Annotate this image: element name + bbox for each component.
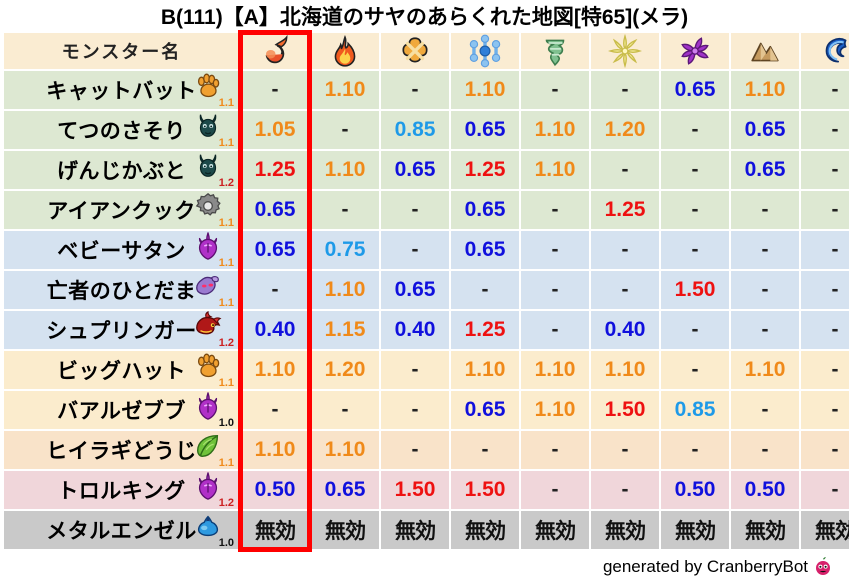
resistance-value: - — [381, 398, 449, 422]
resistance-cell: - — [801, 311, 849, 349]
monster-name-cell[interactable]: てつのさそり1.1 — [4, 111, 239, 149]
darkstar-icon — [678, 34, 712, 68]
resistance-cell: 1.10 — [591, 351, 659, 389]
table-row: げんじかぶと1.21.251.100.651.251.10--0.65- — [4, 151, 849, 189]
resistance-cell: - — [801, 151, 849, 189]
monster-family-badge: 1.1 — [191, 192, 235, 228]
resistance-value: 0.65 — [381, 278, 449, 302]
resistance-cell: - — [591, 431, 659, 469]
resistance-value: 1.10 — [731, 358, 799, 382]
resistance-cell: 1.05 — [241, 111, 309, 149]
resistance-value: 0.65 — [661, 78, 729, 102]
resistance-cell: 1.10 — [311, 151, 379, 189]
resistance-value: - — [311, 198, 379, 222]
resistance-value: 0.65 — [731, 118, 799, 142]
resistance-cell: 無効 — [591, 511, 659, 549]
monster-multiplier-label: 1.1 — [219, 98, 234, 109]
tornado-icon — [538, 34, 572, 68]
resistance-cell: 無効 — [241, 511, 309, 549]
resistance-value: - — [241, 78, 309, 102]
header-element-gira[interactable] — [311, 33, 379, 69]
resistance-cell: - — [381, 391, 449, 429]
resistance-value: - — [801, 78, 849, 102]
resistance-cell: - — [801, 391, 849, 429]
resistance-cell: - — [801, 271, 849, 309]
resistance-value: 無効 — [451, 515, 519, 545]
monster-multiplier-label: 1.1 — [219, 138, 234, 149]
mountain-icon — [748, 34, 782, 68]
resistance-value: - — [591, 78, 659, 102]
table-row: アイアンクック1.10.65--0.65-1.25--- — [4, 191, 849, 229]
monster-name-label: てつのさそり — [57, 115, 186, 145]
resistance-value: - — [521, 238, 589, 262]
resistance-cell: - — [591, 471, 659, 509]
table-row: シュプリンガー1.20.401.150.401.25-0.40--- — [4, 311, 849, 349]
monster-family-badge: 1.2 — [191, 312, 235, 348]
monster-family-badge: 1.1 — [191, 232, 235, 268]
monster-multiplier-label: 1.1 — [219, 258, 234, 269]
resistance-cell: - — [381, 351, 449, 389]
resistance-cell: 1.15 — [311, 311, 379, 349]
resistance-value: 0.65 — [241, 198, 309, 222]
table-row: バアルゼブブ1.0---0.651.101.500.85-- — [4, 391, 849, 429]
resistance-value: - — [521, 438, 589, 462]
header-element-dein[interactable] — [591, 33, 659, 69]
resistance-value: - — [801, 238, 849, 262]
monster-family-badge: 1.1 — [191, 272, 235, 308]
resistance-value: 0.65 — [451, 118, 519, 142]
resistance-value: 無効 — [591, 515, 659, 545]
resistance-value: 0.65 — [451, 398, 519, 422]
resistance-value: - — [801, 358, 849, 382]
monster-name-label: アイアンクック — [47, 195, 196, 225]
fireball-icon — [258, 34, 292, 68]
resistance-value: 0.50 — [731, 478, 799, 502]
resistance-cell: 1.10 — [731, 71, 799, 109]
resistance-value: 無効 — [381, 515, 449, 545]
resistance-cell: 1.10 — [521, 111, 589, 149]
resistance-value: - — [381, 358, 449, 382]
resistance-cell: 無効 — [731, 511, 799, 549]
resistance-cell: 1.10 — [451, 351, 519, 389]
resistance-cell: - — [521, 231, 589, 269]
monster-name-cell[interactable]: トロルキング1.2 — [4, 471, 239, 509]
monster-multiplier-label: 1.2 — [219, 498, 234, 509]
resistance-value: 1.10 — [311, 438, 379, 462]
monster-multiplier-label: 1.1 — [219, 458, 234, 469]
resistance-cell: - — [381, 191, 449, 229]
resistance-value: 1.20 — [311, 358, 379, 382]
resistance-cell: 1.10 — [521, 151, 589, 189]
resistance-value: - — [801, 438, 849, 462]
resistance-cell: 0.65 — [451, 231, 519, 269]
header-element-merazo[interactable] — [801, 33, 849, 69]
monster-name-cell[interactable]: 亡者のひとだま1.1 — [4, 271, 239, 309]
resistance-value: - — [311, 398, 379, 422]
resistance-cell: 1.10 — [311, 71, 379, 109]
resistance-value: - — [591, 438, 659, 462]
resistance-cell: 0.85 — [661, 391, 729, 429]
resistance-cell: - — [801, 351, 849, 389]
resistance-table: モンスター名キャットバット1.1-1.10-1.10--0.651.10-てつの… — [2, 31, 849, 551]
resistance-value: 1.10 — [451, 78, 519, 102]
monster-multiplier-label: 1.2 — [219, 338, 234, 349]
monster-multiplier-label: 1.2 — [219, 178, 234, 189]
resistance-value: - — [801, 478, 849, 502]
resistance-value: 1.10 — [521, 358, 589, 382]
monster-name-label: げんじかぶと — [57, 155, 186, 185]
resistance-cell: 0.50 — [241, 471, 309, 509]
resistance-cell: - — [661, 231, 729, 269]
monster-family-badge: 1.1 — [191, 352, 235, 388]
resistance-value: 1.10 — [521, 118, 589, 142]
table-row: ベビーサタン1.10.650.75-0.65----- — [4, 231, 849, 269]
resistance-value: 1.50 — [381, 478, 449, 502]
resistance-cell: 無効 — [311, 511, 379, 549]
monster-multiplier-label: 1.0 — [219, 418, 234, 429]
monster-multiplier-label: 1.1 — [219, 378, 234, 389]
resistance-cell: 0.85 — [381, 111, 449, 149]
resistance-cell: 1.50 — [451, 471, 519, 509]
resistance-value: - — [521, 278, 589, 302]
resistance-cell: - — [731, 311, 799, 349]
resistance-cell: - — [801, 111, 849, 149]
resistance-cell: - — [241, 271, 309, 309]
table-row: 亡者のひとだま1.1-1.100.65---1.50-- — [4, 271, 849, 309]
monster-name-label: メタルエンゼル — [46, 515, 197, 545]
resistance-cell: - — [521, 271, 589, 309]
resistance-cell: 1.25 — [591, 191, 659, 229]
resistance-cell: - — [731, 391, 799, 429]
resistance-cell: 1.20 — [591, 111, 659, 149]
resistance-cell: - — [521, 471, 589, 509]
resistance-value: 1.10 — [241, 438, 309, 462]
resistance-value: - — [661, 238, 729, 262]
resistance-value: 1.10 — [731, 78, 799, 102]
resistance-cell: - — [451, 271, 519, 309]
header-element-bagi[interactable] — [521, 33, 589, 69]
monster-family-badge: 1.0 — [191, 512, 235, 548]
resistance-value: 1.10 — [451, 358, 519, 382]
resistance-cell: - — [661, 111, 729, 149]
resistance-value: - — [521, 318, 589, 342]
resistance-cell: - — [241, 391, 309, 429]
header-element-hyado[interactable] — [451, 33, 519, 69]
flame-icon — [328, 34, 362, 68]
resistance-cell: - — [521, 71, 589, 109]
resistance-value: - — [311, 118, 379, 142]
resistance-cell: 0.65 — [241, 231, 309, 269]
resistance-cell: 1.25 — [451, 151, 519, 189]
resistance-value: 1.15 — [311, 318, 379, 342]
table-row: ビッグハット1.11.101.20-1.101.101.10-1.10- — [4, 351, 849, 389]
resistance-value: 0.85 — [661, 398, 729, 422]
resistance-value: - — [731, 278, 799, 302]
resistance-value: 0.40 — [381, 318, 449, 342]
resistance-cell: 無効 — [661, 511, 729, 549]
resistance-cell: 0.50 — [731, 471, 799, 509]
resistance-value: - — [661, 358, 729, 382]
resistance-cell: - — [591, 271, 659, 309]
resistance-value: 1.25 — [451, 158, 519, 182]
resistance-cell: 1.50 — [591, 391, 659, 429]
resistance-value: - — [241, 278, 309, 302]
resistance-cell: 1.10 — [311, 271, 379, 309]
resistance-cell: 0.65 — [661, 71, 729, 109]
resistance-cell: 1.10 — [731, 351, 799, 389]
resistance-cell: 0.65 — [381, 271, 449, 309]
resistance-cell: 1.10 — [241, 431, 309, 469]
resistance-value: - — [521, 198, 589, 222]
resistance-cell: 0.65 — [381, 151, 449, 189]
resistance-cell: 0.40 — [241, 311, 309, 349]
resistance-cell: - — [801, 71, 849, 109]
monster-name-label: バアルゼブブ — [57, 395, 186, 425]
monster-name-cell[interactable]: げんじかぶと1.2 — [4, 151, 239, 189]
resistance-value: 0.65 — [381, 158, 449, 182]
monster-name-cell[interactable]: シュプリンガー1.2 — [4, 311, 239, 349]
resistance-value: - — [661, 318, 729, 342]
resistance-cell: - — [521, 191, 589, 229]
monster-family-badge: 1.1 — [191, 112, 235, 148]
resistance-value: - — [451, 278, 519, 302]
resistance-cell: - — [661, 151, 729, 189]
resistance-value: 1.10 — [241, 358, 309, 382]
resistance-cell: - — [521, 311, 589, 349]
resistance-value: - — [801, 118, 849, 142]
resistance-cell: 0.65 — [731, 151, 799, 189]
resistance-value: - — [801, 198, 849, 222]
monster-name-label: ヒイラギどうじ — [46, 435, 197, 465]
resistance-cell: 0.65 — [241, 191, 309, 229]
resistance-value: 0.50 — [661, 478, 729, 502]
resistance-cell: 1.10 — [311, 431, 379, 469]
resistance-value: 1.25 — [451, 318, 519, 342]
resistance-value: 1.50 — [451, 478, 519, 502]
cranberry-bot-icon — [813, 556, 833, 576]
monster-name-cell[interactable]: キャットバット1.1 — [4, 71, 239, 109]
resistance-value: - — [591, 238, 659, 262]
resistance-cell: - — [591, 231, 659, 269]
resistance-value: 1.10 — [311, 158, 379, 182]
resistance-cell: - — [731, 431, 799, 469]
resistance-value: 1.50 — [591, 398, 659, 422]
resistance-cell: - — [381, 71, 449, 109]
resistance-value: 1.50 — [661, 278, 729, 302]
monster-name-label: シュプリンガー — [46, 315, 197, 345]
resistance-cell: - — [311, 191, 379, 229]
monster-name-label: ビッグハット — [57, 355, 186, 385]
resistance-value: 無効 — [661, 515, 729, 545]
resistance-cell: - — [801, 431, 849, 469]
resistance-value: 0.65 — [241, 238, 309, 262]
resistance-cell: 1.50 — [661, 271, 729, 309]
monster-name-label: 亡者のひとだま — [47, 275, 196, 305]
header-element-mera[interactable] — [241, 33, 309, 69]
resistance-value: 1.10 — [311, 278, 379, 302]
resistance-cell: 0.65 — [451, 111, 519, 149]
resistance-cell: - — [591, 71, 659, 109]
resistance-cell: 無効 — [381, 511, 449, 549]
resistance-value: - — [661, 118, 729, 142]
resistance-cell: - — [311, 111, 379, 149]
resistance-value: - — [381, 438, 449, 462]
resistance-value: - — [731, 438, 799, 462]
resistance-value: 1.10 — [311, 78, 379, 102]
footer-text: generated by CranberryBot — [603, 557, 808, 576]
resistance-cell: 0.40 — [381, 311, 449, 349]
resistance-cell: 無効 — [801, 511, 849, 549]
resistance-cell: 0.65 — [451, 391, 519, 429]
monster-family-badge: 1.1 — [191, 72, 235, 108]
resistance-cell: 無効 — [451, 511, 519, 549]
resistance-value: - — [381, 238, 449, 262]
resistance-value: - — [731, 238, 799, 262]
monster-name-cell[interactable]: ヒイラギどうじ1.1 — [4, 431, 239, 469]
header-element-jibaria[interactable] — [731, 33, 799, 69]
resistance-value: 0.65 — [311, 478, 379, 502]
header-element-io[interactable] — [381, 33, 449, 69]
resistance-value: - — [451, 438, 519, 462]
resistance-value: - — [591, 278, 659, 302]
resistance-value: - — [731, 398, 799, 422]
resistance-cell: - — [381, 231, 449, 269]
wave-icon — [818, 34, 849, 68]
resistance-cell: 1.25 — [451, 311, 519, 349]
resistance-cell: 1.25 — [241, 151, 309, 189]
resistance-value: 0.65 — [731, 158, 799, 182]
resistance-cell: 1.20 — [311, 351, 379, 389]
monster-name-cell[interactable]: ベビーサタン1.1 — [4, 231, 239, 269]
resistance-cell: 1.10 — [451, 71, 519, 109]
resistance-value: 0.65 — [451, 198, 519, 222]
resistance-value: 無効 — [801, 515, 849, 545]
resistance-cell: 0.65 — [731, 111, 799, 149]
header-monster-name: モンスター名 — [4, 33, 239, 69]
resistance-value: 1.10 — [521, 398, 589, 422]
resistance-cell: - — [591, 151, 659, 189]
resistance-value: - — [381, 78, 449, 102]
monster-name-cell[interactable]: アイアンクック1.1 — [4, 191, 239, 229]
monster-multiplier-label: 1.0 — [219, 538, 234, 549]
resistance-value: 0.40 — [241, 318, 309, 342]
monster-multiplier-label: 1.1 — [219, 218, 234, 229]
resistance-value: 0.65 — [451, 238, 519, 262]
resistance-value: 無効 — [241, 515, 309, 545]
resistance-cell: - — [521, 431, 589, 469]
table-row: トロルキング1.20.500.651.501.50--0.500.50- — [4, 471, 849, 509]
resistance-value: - — [591, 478, 659, 502]
table-row: てつのさそり1.11.05-0.850.651.101.20-0.65- — [4, 111, 849, 149]
table-body: モンスター名キャットバット1.1-1.10-1.10--0.651.10-てつの… — [4, 33, 849, 549]
resistance-cell: - — [731, 231, 799, 269]
resistance-cell: - — [661, 351, 729, 389]
resistance-value: 0.75 — [311, 238, 379, 262]
resistance-value: - — [661, 438, 729, 462]
resistance-cell: 無効 — [521, 511, 589, 549]
resistance-cell: 1.10 — [521, 351, 589, 389]
resistance-value: - — [731, 198, 799, 222]
monster-family-badge: 1.0 — [191, 392, 235, 428]
monster-name-label: ベビーサタン — [57, 235, 186, 265]
resistance-cell: 0.65 — [451, 191, 519, 229]
resistance-value: 0.85 — [381, 118, 449, 142]
footer-credit: generated by CranberryBot — [0, 556, 849, 577]
resistance-cell: - — [311, 391, 379, 429]
resistance-cell: 0.75 — [311, 231, 379, 269]
monster-name-cell[interactable]: メタルエンゼル1.0 — [4, 511, 239, 549]
resistance-cell: - — [241, 71, 309, 109]
monster-family-badge: 1.2 — [191, 152, 235, 188]
resistance-value: 無効 — [731, 515, 799, 545]
resistance-cell: 1.10 — [241, 351, 309, 389]
resistance-value: 0.40 — [591, 318, 659, 342]
resistance-value: - — [591, 158, 659, 182]
resistance-value: - — [801, 278, 849, 302]
resistance-cell: - — [661, 311, 729, 349]
resistance-cell: - — [801, 231, 849, 269]
resistance-cell: - — [381, 431, 449, 469]
resistance-cell: 1.50 — [381, 471, 449, 509]
snowflake-icon — [468, 34, 502, 68]
spark-icon — [608, 34, 642, 68]
resistance-value: 1.20 — [591, 118, 659, 142]
header-element-dorma[interactable] — [661, 33, 729, 69]
resistance-value: - — [521, 78, 589, 102]
resistance-cell: - — [731, 271, 799, 309]
resistance-value: - — [731, 318, 799, 342]
resistance-value: 無効 — [311, 515, 379, 545]
resistance-cell: 1.10 — [521, 391, 589, 429]
resistance-cell: - — [451, 431, 519, 469]
resistance-value: 無効 — [521, 515, 589, 545]
resistance-value: - — [661, 158, 729, 182]
table-row: メタルエンゼル1.0無効無効無効無効無効無効無効無効無効 — [4, 511, 849, 549]
resistance-cell: - — [661, 431, 729, 469]
monster-name-label: キャットバット — [46, 75, 197, 105]
table-row: ヒイラギどうじ1.11.101.10------- — [4, 431, 849, 469]
monster-name-cell[interactable]: バアルゼブブ1.0 — [4, 391, 239, 429]
resistance-value: - — [521, 478, 589, 502]
table-header-row: モンスター名 — [4, 33, 849, 69]
monster-name-label: トロルキング — [57, 475, 185, 505]
resistance-value: 1.25 — [591, 198, 659, 222]
resistance-value: 1.10 — [591, 358, 659, 382]
resistance-value: 1.25 — [241, 158, 309, 182]
resistance-value: 0.50 — [241, 478, 309, 502]
resistance-cell: - — [731, 191, 799, 229]
blast-icon — [398, 34, 432, 68]
resistance-value: 1.05 — [241, 118, 309, 142]
resistance-cell: 0.65 — [311, 471, 379, 509]
resistance-value: - — [801, 158, 849, 182]
resistance-value: - — [801, 318, 849, 342]
resistance-cell: - — [661, 191, 729, 229]
table-row: キャットバット1.1-1.10-1.10--0.651.10- — [4, 71, 849, 109]
resistance-value: - — [801, 398, 849, 422]
resistance-cell: 0.40 — [591, 311, 659, 349]
monster-family-badge: 1.2 — [191, 472, 235, 508]
resistance-cell: - — [801, 191, 849, 229]
monster-name-cell[interactable]: ビッグハット1.1 — [4, 351, 239, 389]
resistance-value: - — [241, 398, 309, 422]
resistance-value: - — [661, 198, 729, 222]
resistance-value: - — [381, 198, 449, 222]
monster-multiplier-label: 1.1 — [219, 298, 234, 309]
resistance-cell: 0.50 — [661, 471, 729, 509]
resistance-cell: - — [801, 471, 849, 509]
monster-family-badge: 1.1 — [191, 432, 235, 468]
